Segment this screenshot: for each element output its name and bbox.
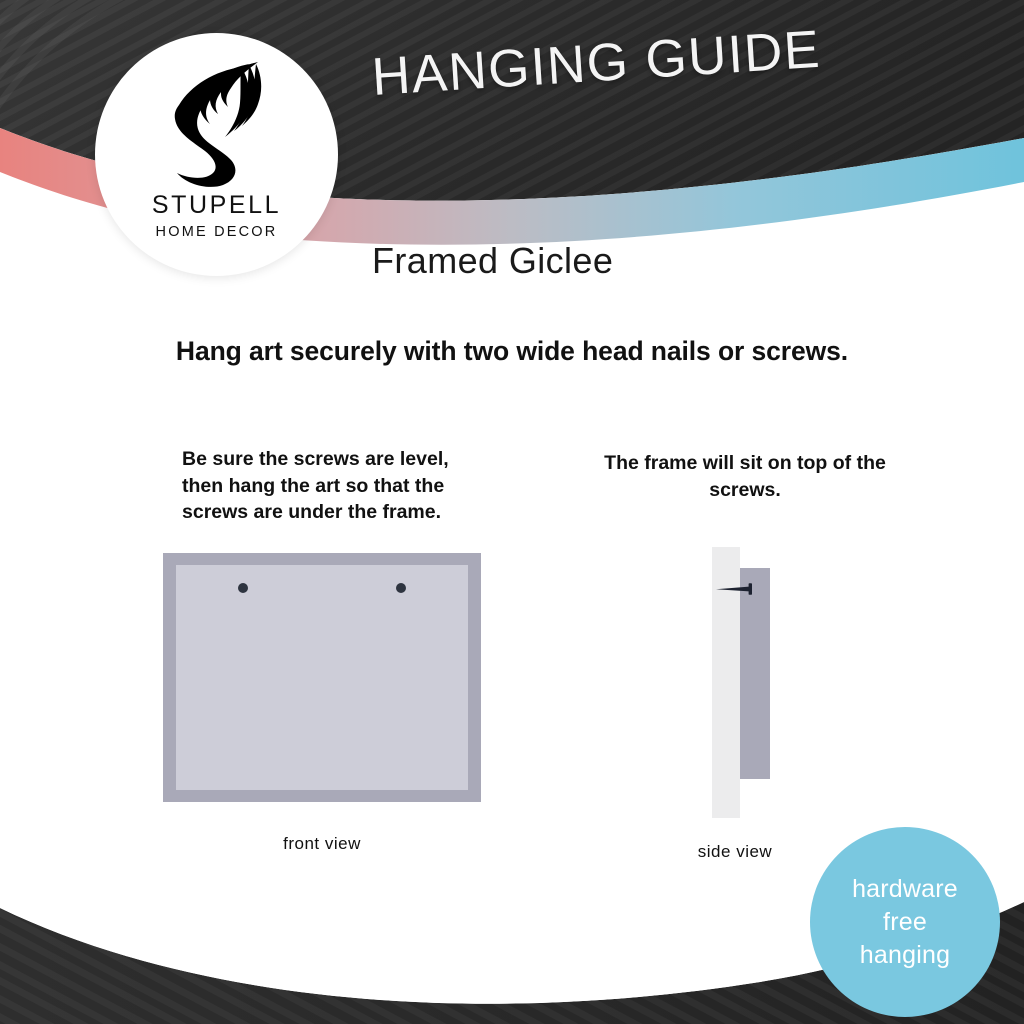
product-type-heading: Framed Giclee [372,240,613,282]
side-view-frame [740,568,770,779]
page-title: HANGING GUIDE [370,19,822,108]
hanging-guide-page: STUPELL HOME DECOR HANGING GUIDE Framed … [0,0,1024,1024]
front-view-screw-left [238,583,248,593]
front-view-label: front view [182,834,462,854]
nail-side-icon [716,581,756,597]
brand-name: STUPELL [152,193,281,218]
front-view-frame-diagram [163,553,481,802]
side-view-label: side view [645,842,825,862]
stupell-swoosh-logo-icon [156,59,278,187]
brand-subtitle: HOME DECOR [156,225,278,240]
front-view-screw-right [396,583,406,593]
hardware-free-hanging-badge: hardware free hanging [810,827,1000,1017]
brand-logo-badge: STUPELL HOME DECOR [95,33,338,276]
badge-line-2: free [883,906,927,939]
badge-line-3: hanging [860,939,950,972]
side-view-caption: The frame will sit on top of the screws. [600,450,890,503]
tagline-text: Hang art securely with two wide head nai… [0,336,1024,367]
front-view-caption: Be sure the screws are level, then hang … [182,446,482,526]
badge-line-1: hardware [852,873,958,906]
front-view-artwork [176,565,468,790]
